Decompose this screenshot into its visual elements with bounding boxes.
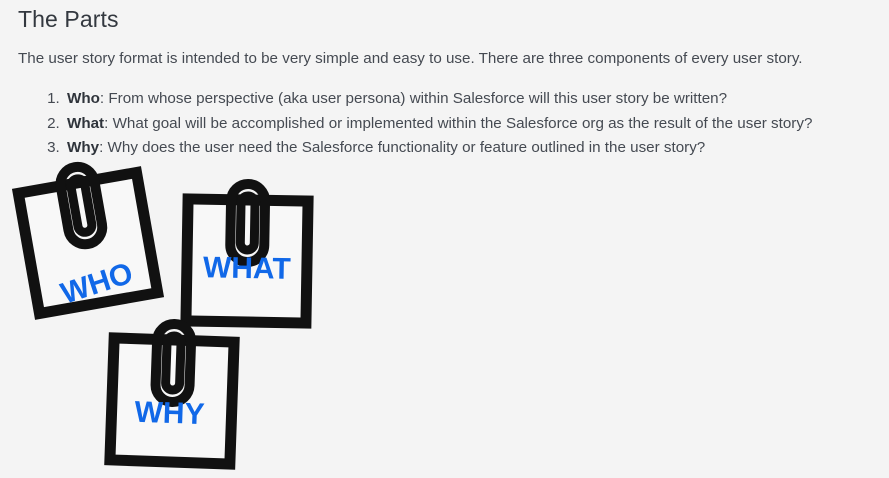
note-card-why: WHY — [110, 322, 235, 464]
list-item: Who: From whose perspective (aka user pe… — [64, 88, 871, 110]
list-item-term: What — [67, 115, 104, 132]
note-card-what-label: WHAT — [203, 251, 291, 286]
list-item-term: Who — [67, 90, 100, 107]
note-card-who: WHO — [16, 158, 158, 315]
list-item: Why: Why does the user need the Salesfor… — [64, 137, 871, 159]
page-title: The Parts — [18, 0, 871, 34]
note-card-why-label: WHY — [134, 396, 205, 431]
intro-paragraph: The user story format is intended to be … — [18, 48, 871, 70]
list-item-term: Why — [67, 139, 99, 156]
list-item-description: Why does the user need the Salesforce fu… — [108, 139, 706, 156]
user-story-parts-illustration: WHO WHAT WHY — [0, 158, 340, 478]
note-card-what: WHAT — [186, 183, 308, 323]
list-item-separator: : — [104, 115, 108, 132]
list-item-description: What goal will be accomplished or implem… — [113, 115, 813, 132]
parts-list: Who: From whose perspective (aka user pe… — [18, 88, 871, 159]
list-item-separator: : — [99, 139, 103, 156]
list-item-separator: : — [100, 90, 104, 107]
list-item: What: What goal will be accomplished or … — [64, 113, 871, 135]
article-section: The Parts The user story format is inten… — [0, 0, 889, 468]
list-item-description: From whose perspective (aka user persona… — [108, 90, 727, 107]
